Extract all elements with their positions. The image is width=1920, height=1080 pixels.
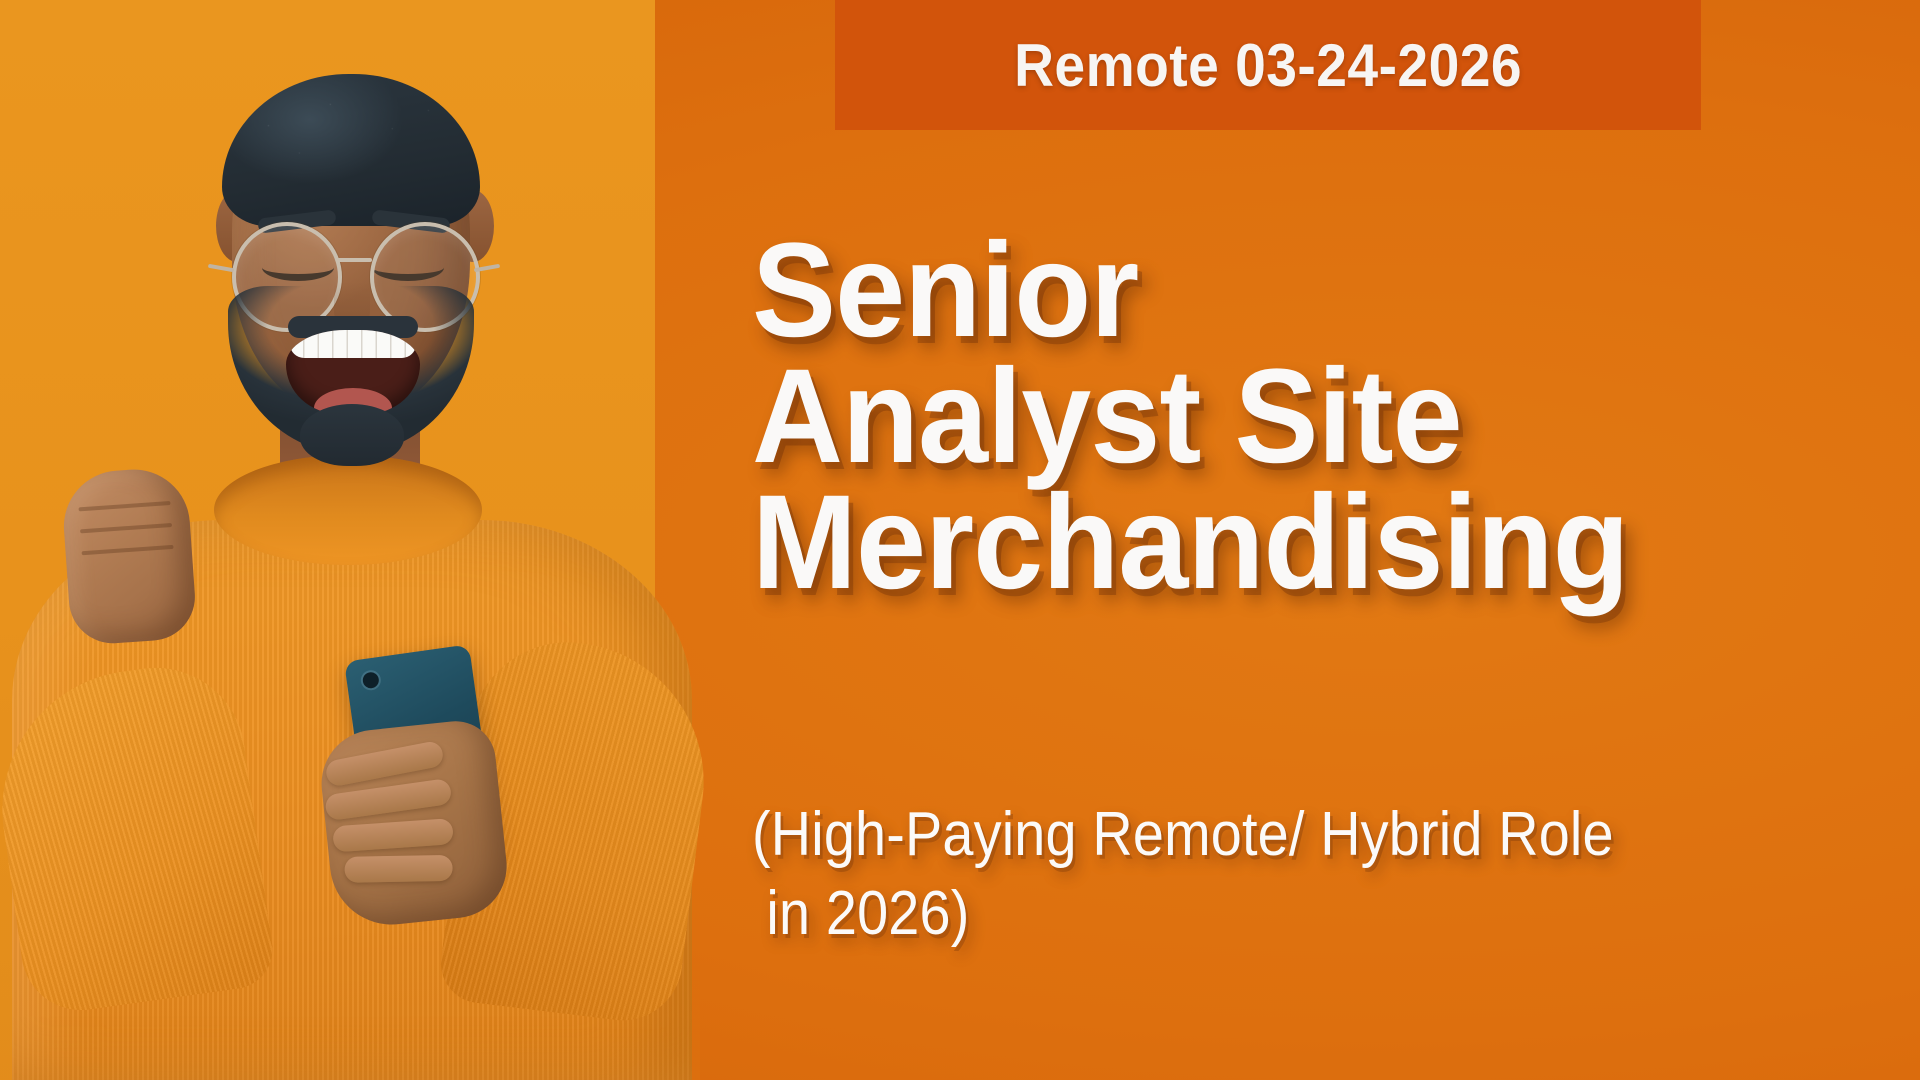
left-temple: [208, 264, 234, 272]
subtitle-line-1: (High-Paying Remote/ Hybrid Role: [752, 795, 1769, 874]
headline-line-2: Analyst Site: [752, 354, 1805, 480]
headline-line-1: Senior: [752, 228, 1805, 354]
remote-date-badge-label: Remote 03-24-2026: [1014, 31, 1522, 100]
glasses-bridge: [336, 258, 372, 262]
finger: [344, 855, 452, 883]
remote-date-badge: Remote 03-24-2026: [835, 0, 1701, 130]
open-mouth: [286, 330, 420, 414]
raised-fist-icon: [60, 466, 198, 646]
hero-photo: [0, 0, 700, 1080]
right-hand: [316, 717, 512, 930]
subtitle-line-2: in 2026): [752, 874, 1769, 953]
chin-beard: [300, 404, 404, 466]
sweater-collar: [214, 455, 482, 565]
page-subtitle: (High-Paying Remote/ Hybrid Role in 2026…: [752, 795, 1882, 954]
page-title: Senior Analyst Site Merchandising: [752, 228, 1872, 606]
knuckle-line: [78, 501, 170, 511]
hair: [222, 74, 480, 226]
knuckle-line: [80, 523, 172, 533]
phone-camera-icon: [362, 671, 380, 689]
teeth: [290, 330, 416, 358]
job-posting-banner: Remote 03-24-2026 Senior Analyst Site Me…: [0, 0, 1920, 1080]
finger: [332, 818, 454, 852]
headline-line-3: Merchandising: [752, 480, 1805, 606]
knuckle-line: [82, 545, 174, 555]
